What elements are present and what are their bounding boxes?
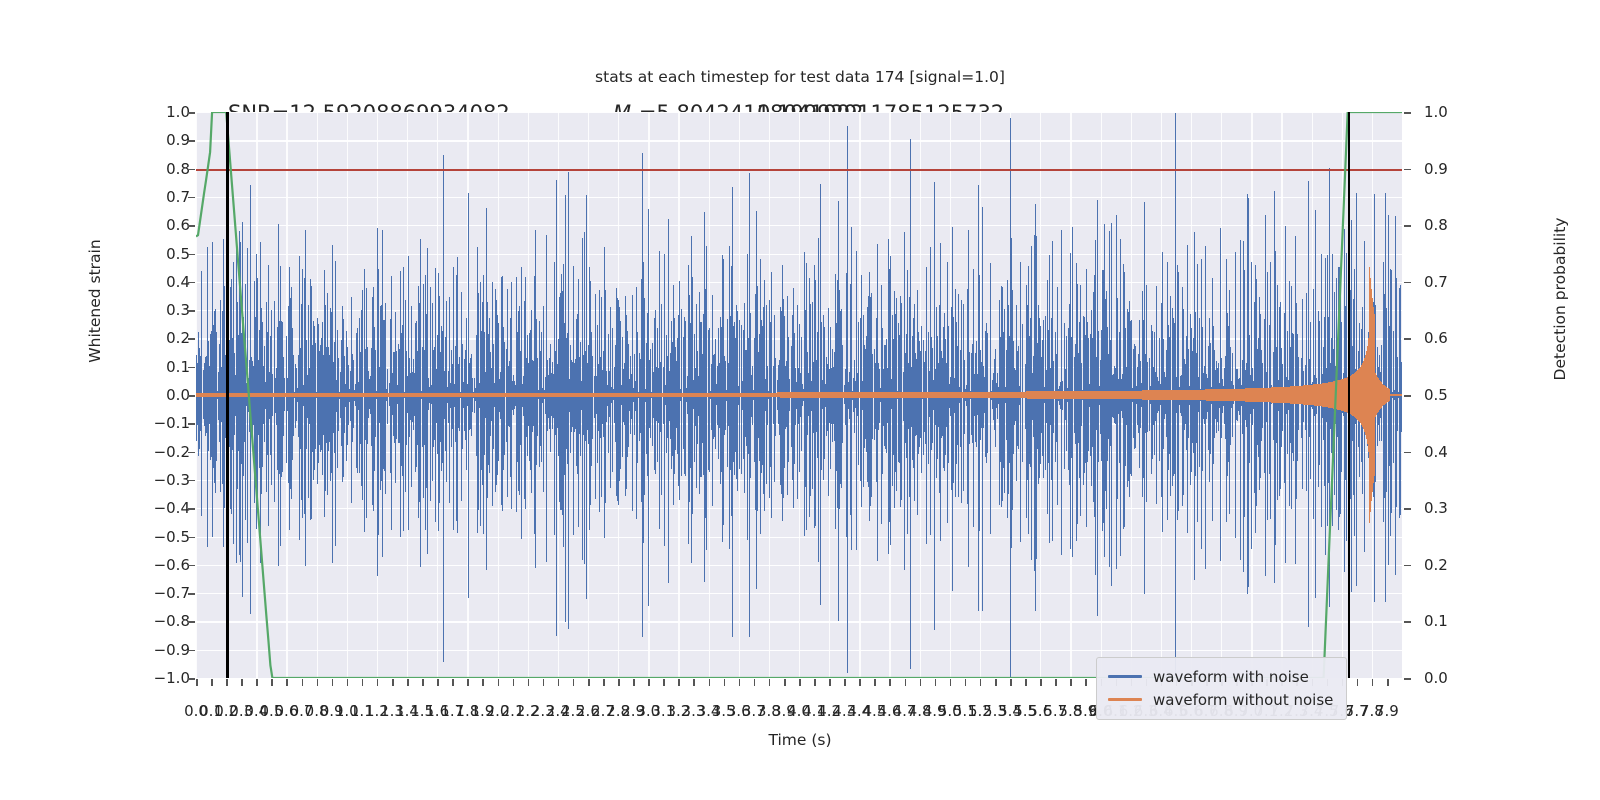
y-tick-label-right: 0.3 bbox=[1424, 499, 1544, 517]
x-tick-mark bbox=[513, 679, 515, 686]
x-tick-mark bbox=[980, 679, 982, 686]
x-tick-mark bbox=[377, 679, 379, 686]
y-tick-label-left: −1.0 bbox=[70, 669, 190, 687]
y-tick-mark-left bbox=[188, 452, 195, 454]
x-tick-label: 7.9 bbox=[1375, 702, 1399, 720]
x-tick-mark bbox=[799, 679, 801, 686]
y-tick-mark-right bbox=[1404, 169, 1411, 171]
y-tick-mark-right bbox=[1404, 508, 1411, 510]
y-tick-mark-left bbox=[188, 650, 195, 652]
x-tick-mark bbox=[950, 679, 952, 686]
y-tick-label-left: −0.6 bbox=[70, 556, 190, 574]
x-tick-mark bbox=[1010, 679, 1012, 686]
x-tick-mark bbox=[407, 679, 409, 686]
y-tick-label-right: 0.1 bbox=[1424, 612, 1544, 630]
y-tick-label-left: −0.4 bbox=[70, 499, 190, 517]
y-tick-mark-left bbox=[188, 225, 195, 227]
chart-figure: stats at each timestep for test data 174… bbox=[0, 0, 1600, 800]
legend-label-waveform-without-noise: waveform without noise bbox=[1153, 691, 1333, 709]
y-tick-label-right: 0.7 bbox=[1424, 273, 1544, 291]
chart-legend: waveform with noise waveform without noi… bbox=[1096, 657, 1347, 720]
y-tick-mark-right bbox=[1404, 565, 1411, 567]
x-tick-mark bbox=[920, 679, 922, 686]
y-tick-mark-left bbox=[188, 169, 195, 171]
x-tick-mark bbox=[724, 679, 726, 686]
y-tick-mark-left bbox=[188, 282, 195, 284]
x-tick-mark bbox=[1085, 679, 1087, 686]
y-tick-mark-left bbox=[188, 338, 195, 340]
x-tick-mark bbox=[754, 679, 756, 686]
x-tick-mark bbox=[859, 679, 861, 686]
y-tick-mark-left bbox=[188, 537, 195, 539]
y-tick-label-right: 0.6 bbox=[1424, 329, 1544, 347]
x-tick-mark bbox=[829, 679, 831, 686]
x-tick-mark bbox=[558, 679, 560, 686]
y-tick-mark-left bbox=[188, 480, 195, 482]
x-tick-mark bbox=[905, 679, 907, 686]
y-tick-label-left: 0.0 bbox=[70, 386, 190, 404]
x-tick-mark bbox=[648, 679, 650, 686]
y-tick-mark-left bbox=[188, 621, 195, 623]
x-tick-mark bbox=[784, 679, 786, 686]
x-tick-mark bbox=[739, 679, 741, 686]
y-axis-label-right: Detection probability bbox=[1551, 194, 1569, 404]
y-tick-mark-right bbox=[1404, 282, 1411, 284]
merger-time-marker bbox=[1348, 112, 1350, 678]
y-tick-label-left: 0.4 bbox=[70, 273, 190, 291]
y-tick-label-left: −0.2 bbox=[70, 443, 190, 461]
x-axis-label: Time (s) bbox=[0, 731, 1600, 749]
x-tick-mark bbox=[437, 679, 439, 686]
y-tick-label-left: −0.9 bbox=[70, 641, 190, 659]
x-tick-mark bbox=[422, 679, 424, 686]
x-tick-mark bbox=[302, 679, 304, 686]
y-tick-label-right: 0.0 bbox=[1424, 669, 1544, 687]
y-tick-label-left: 0.5 bbox=[70, 245, 190, 263]
y-tick-mark-right bbox=[1404, 338, 1411, 340]
x-tick-mark bbox=[256, 679, 258, 686]
x-tick-mark bbox=[618, 679, 620, 686]
y-tick-mark-right bbox=[1404, 395, 1411, 397]
x-tick-mark bbox=[889, 679, 891, 686]
merger-time-marker bbox=[226, 112, 228, 678]
x-tick-mark bbox=[709, 679, 711, 686]
plot-area bbox=[196, 112, 1402, 678]
x-tick-mark bbox=[392, 679, 394, 686]
x-tick-mark bbox=[1025, 679, 1027, 686]
x-tick-mark bbox=[211, 679, 213, 686]
x-tick-mark bbox=[663, 679, 665, 686]
x-tick-mark bbox=[965, 679, 967, 686]
x-tick-mark bbox=[271, 679, 273, 686]
x-tick-mark bbox=[317, 679, 319, 686]
x-tick-mark bbox=[467, 679, 469, 686]
y-tick-label-left: 0.7 bbox=[70, 188, 190, 206]
y-tick-label-right: 0.2 bbox=[1424, 556, 1544, 574]
x-tick-mark bbox=[1372, 679, 1374, 686]
x-tick-mark bbox=[332, 679, 334, 686]
x-tick-mark bbox=[588, 679, 590, 686]
y-tick-mark-right bbox=[1404, 225, 1411, 227]
y-tick-label-left: −0.7 bbox=[70, 584, 190, 602]
y-tick-label-left: 0.3 bbox=[70, 301, 190, 319]
y-tick-mark-left bbox=[188, 367, 195, 369]
legend-item-waveform-without-noise: waveform without noise bbox=[1108, 688, 1333, 711]
x-tick-mark bbox=[362, 679, 364, 686]
chart-title: stats at each timestep for test data 174… bbox=[0, 68, 1600, 86]
x-tick-mark bbox=[241, 679, 243, 686]
y-tick-mark-left bbox=[188, 197, 195, 199]
y-tick-mark-right bbox=[1404, 112, 1411, 114]
x-tick-mark bbox=[995, 679, 997, 686]
x-tick-mark bbox=[528, 679, 530, 686]
x-tick-mark bbox=[1357, 679, 1359, 686]
x-tick-mark bbox=[543, 679, 545, 686]
x-tick-mark bbox=[1040, 679, 1042, 686]
y-tick-mark-left bbox=[188, 140, 195, 142]
x-tick-mark bbox=[196, 679, 198, 686]
y-tick-label-left: 0.2 bbox=[70, 329, 190, 347]
legend-label-waveform-with-noise: waveform with noise bbox=[1153, 668, 1309, 686]
x-tick-mark bbox=[769, 679, 771, 686]
y-tick-mark-right bbox=[1404, 452, 1411, 454]
x-tick-mark bbox=[1055, 679, 1057, 686]
y-tick-label-left: −0.3 bbox=[70, 471, 190, 489]
x-tick-mark bbox=[286, 679, 288, 686]
x-tick-mark bbox=[452, 679, 454, 686]
x-tick-mark bbox=[814, 679, 816, 686]
x-tick-mark bbox=[678, 679, 680, 686]
legend-swatch-blue bbox=[1108, 675, 1142, 678]
x-tick-mark bbox=[347, 679, 349, 686]
y-tick-mark-left bbox=[188, 254, 195, 256]
x-tick-mark bbox=[603, 679, 605, 686]
y-tick-mark-left bbox=[188, 423, 195, 425]
y-tick-label-right: 0.4 bbox=[1424, 443, 1544, 461]
y-tick-label-left: 0.6 bbox=[70, 216, 190, 234]
y-tick-label-left: 1.0 bbox=[70, 103, 190, 121]
x-tick-mark bbox=[935, 679, 937, 686]
y-tick-label-left: −0.5 bbox=[70, 528, 190, 546]
y-tick-mark-left bbox=[188, 593, 195, 595]
y-tick-label-left: −0.8 bbox=[70, 612, 190, 630]
x-tick-mark bbox=[693, 679, 695, 686]
y-tick-label-right: 0.5 bbox=[1424, 386, 1544, 404]
y-tick-mark-left bbox=[188, 310, 195, 312]
y-tick-mark-left bbox=[188, 395, 195, 397]
y-tick-mark-right bbox=[1404, 621, 1411, 623]
x-tick-mark bbox=[844, 679, 846, 686]
y-tick-label-right: 1.0 bbox=[1424, 103, 1544, 121]
x-tick-mark bbox=[874, 679, 876, 686]
y-tick-label-left: −0.1 bbox=[70, 414, 190, 432]
y-tick-mark-left bbox=[188, 112, 195, 114]
y-tick-mark-left bbox=[188, 565, 195, 567]
x-tick-mark bbox=[573, 679, 575, 686]
y-tick-label-left: 0.8 bbox=[70, 160, 190, 178]
x-tick-mark bbox=[226, 679, 228, 686]
y-tick-label-right: 0.8 bbox=[1424, 216, 1544, 234]
x-tick-mark bbox=[482, 679, 484, 686]
y-tick-mark-right bbox=[1404, 678, 1411, 680]
x-tick-mark bbox=[1387, 679, 1389, 686]
legend-swatch-orange bbox=[1108, 698, 1142, 701]
series-detection-probability bbox=[196, 112, 1402, 678]
x-tick-mark bbox=[498, 679, 500, 686]
y-tick-label-left: 0.9 bbox=[70, 131, 190, 149]
y-tick-label-right: 0.9 bbox=[1424, 160, 1544, 178]
x-tick-mark bbox=[1070, 679, 1072, 686]
legend-item-waveform-with-noise: waveform with noise bbox=[1108, 665, 1333, 688]
x-tick-mark bbox=[633, 679, 635, 686]
y-tick-mark-left bbox=[188, 678, 195, 680]
y-tick-mark-left bbox=[188, 508, 195, 510]
y-tick-label-left: 0.1 bbox=[70, 358, 190, 376]
